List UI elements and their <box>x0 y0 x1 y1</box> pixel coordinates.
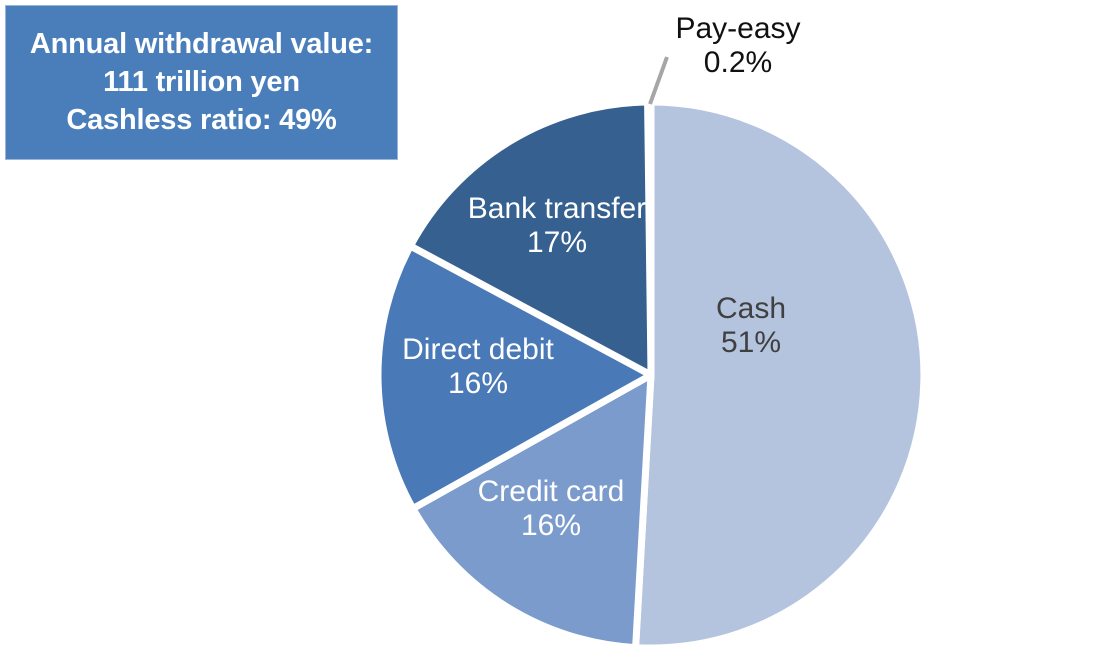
pie-label-credit-card-name: Credit card <box>466 475 636 509</box>
pie-label-cash: Cash 51% <box>683 292 819 360</box>
pie-label-bank-transfer-name: Bank transfer <box>462 192 652 226</box>
pie-label-direct-debit: Direct debit 16% <box>390 333 566 401</box>
pie-label-credit-card: Credit card 16% <box>466 475 636 543</box>
pie-label-cash-value: 51% <box>683 326 819 360</box>
pie-label-direct-debit-name: Direct debit <box>390 333 566 367</box>
pie-label-pay-easy-value: 0.2% <box>663 46 813 80</box>
pie-label-bank-transfer: Bank transfer 17% <box>462 192 652 260</box>
pie-slice-cash[interactable] <box>636 102 924 648</box>
pie-label-credit-card-value: 16% <box>466 509 636 543</box>
pie-label-bank-transfer-value: 17% <box>462 226 652 260</box>
pie-label-pay-easy-name: Pay-easy <box>663 12 813 46</box>
pie-label-direct-debit-value: 16% <box>390 367 566 401</box>
pie-label-pay-easy: Pay-easy 0.2% <box>663 12 813 80</box>
pie-chart-figure: Annual withdrawal value: 111 trillion ye… <box>0 0 1120 668</box>
pie-label-cash-name: Cash <box>683 292 819 326</box>
